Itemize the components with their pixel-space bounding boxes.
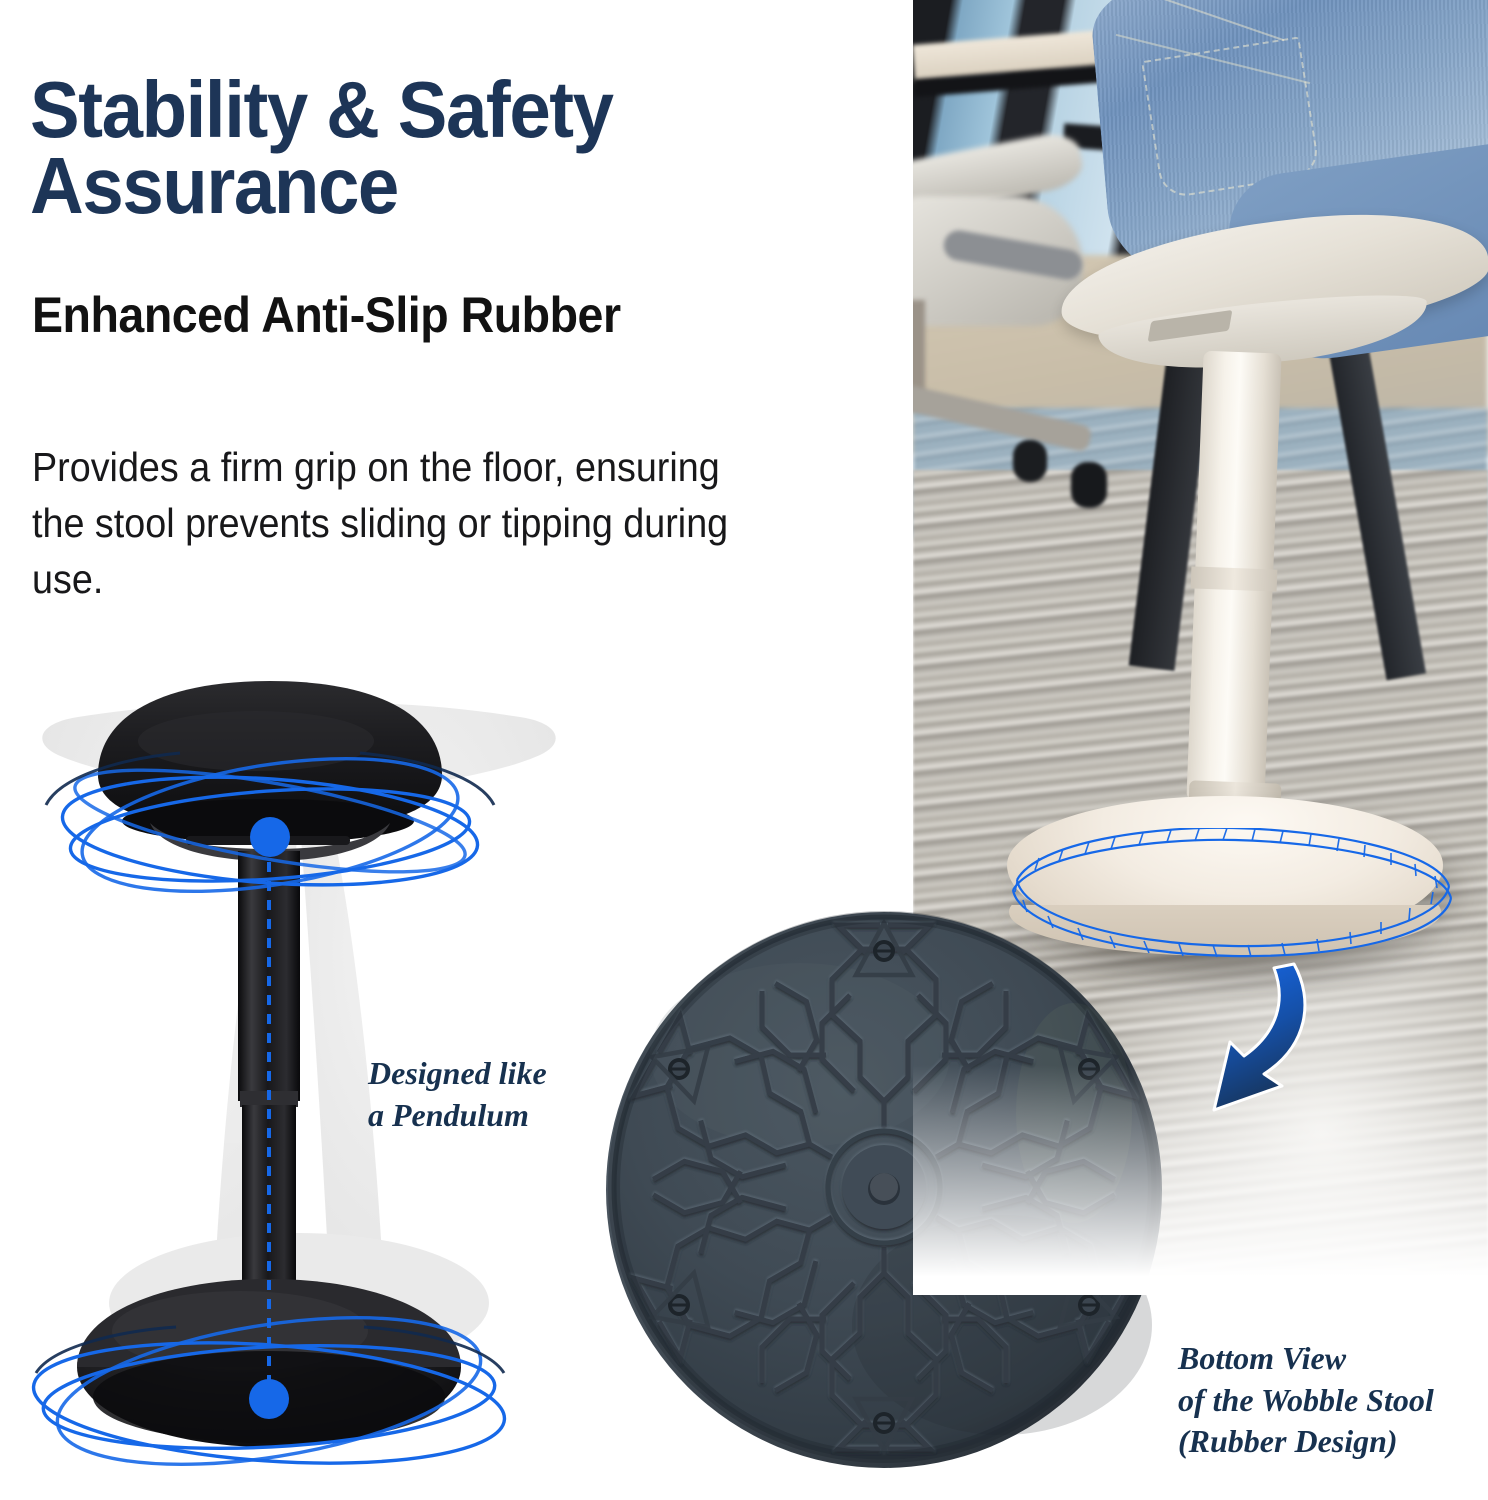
blue-grid-overlay-icon [1003, 828, 1453, 968]
photo-stool-column-joint [1191, 566, 1278, 591]
office-chair-caster [1013, 440, 1047, 482]
pivot-dot-bottom-icon [249, 1379, 289, 1419]
page-subtitle: Enhanced Anti-Slip Rubber [32, 286, 850, 344]
page-title: Stability & Safety Assurance [30, 72, 830, 224]
office-chair-caster [1071, 462, 1107, 508]
caption-designed-like-a-pendulum: Designed like a Pendulum [368, 1053, 547, 1136]
pointer-arrow-icon [1190, 960, 1330, 1120]
pivot-dot-top-icon [250, 817, 290, 857]
body-paragraph: Provides a firm grip on the floor, ensur… [32, 440, 731, 607]
caption-bottom-view-of-wobble-stool: Bottom View of the Wobble Stool (Rubber … [1178, 1338, 1434, 1463]
infographic-canvas: Stability & Safety Assurance Enhanced An… [0, 0, 1488, 1500]
headline-line-2: Assurance [30, 141, 398, 230]
